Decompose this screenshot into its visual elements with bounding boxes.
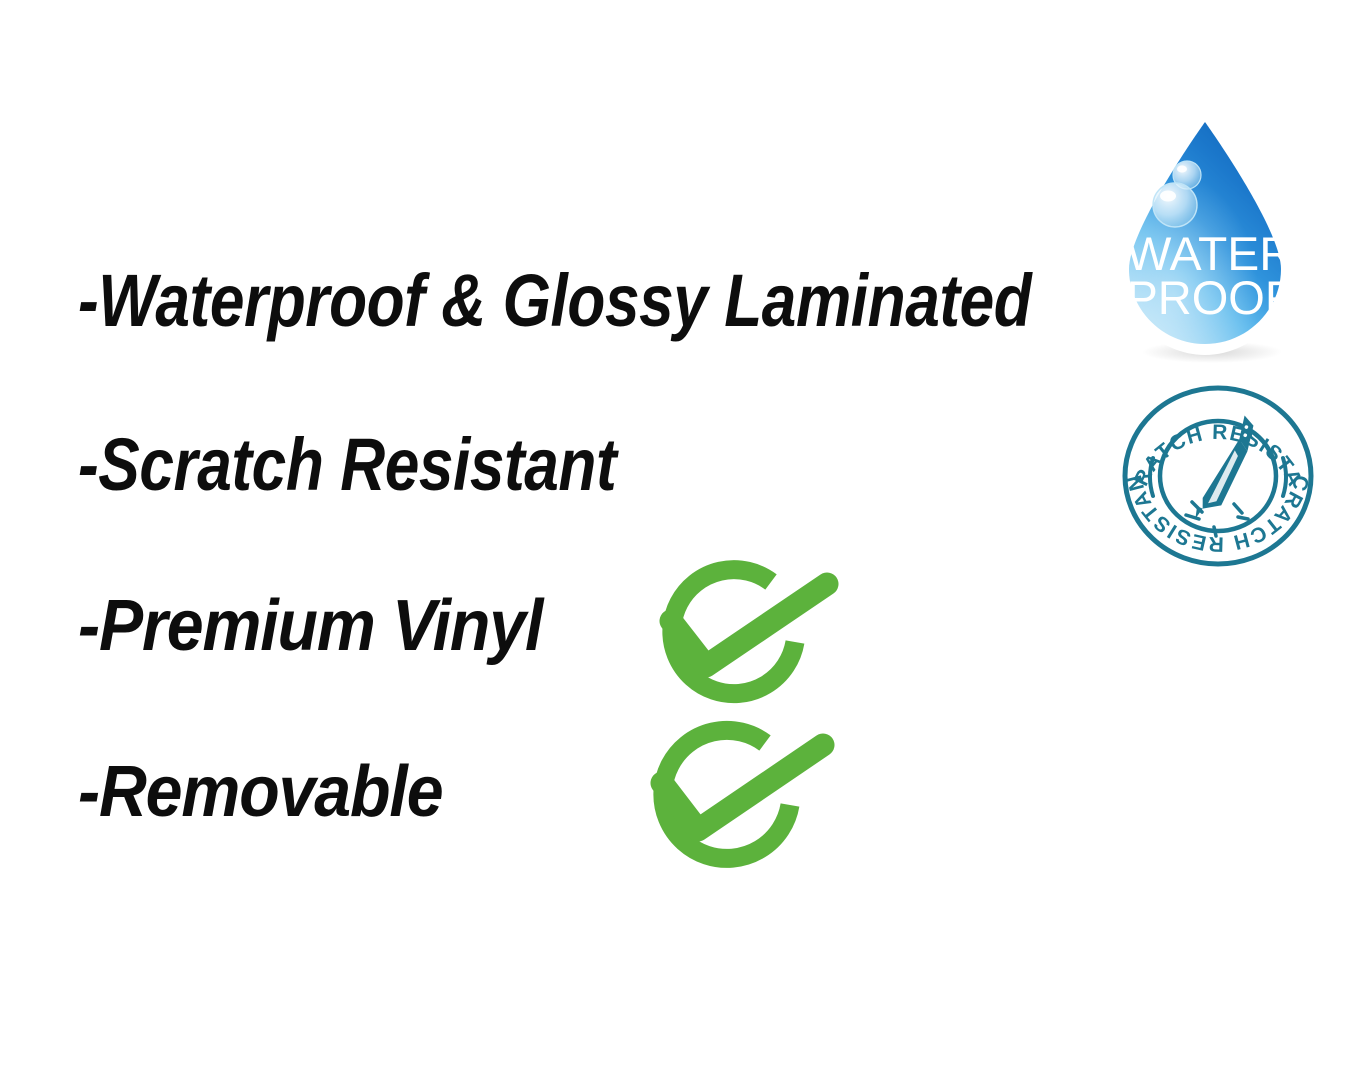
water-bubble-large [1153,183,1197,227]
stamp-text-top: SCRATCH RESISTANT [1120,384,1307,491]
product-features-graphic: -Waterproof & Glossy Laminated -Scratch … [0,0,1359,1080]
green-check-icon-1 [634,556,842,716]
water-bubble-large-highlight [1160,191,1176,202]
scratch-resistant-stamp-badge: SCRATCH RESISTANT SCRATCH RESISTANT [1120,384,1316,568]
feature-item-premium-vinyl: -Premium Vinyl [78,590,542,662]
droplet-sheen [1129,122,1281,344]
feature-list: -Waterproof & Glossy Laminated -Scratch … [0,0,1100,1080]
feature-item-waterproof-glossy-laminated: -Waterproof & Glossy Laminated [78,264,1031,338]
feature-item-scratch-resistant: -Scratch Resistant [78,428,616,502]
green-check-icon-2 [624,716,838,882]
feature-item-removable: -Removable [78,756,442,828]
waterproof-droplet-badge: WATER PROOF [1104,106,1316,364]
water-bubble-small-highlight [1177,165,1187,172]
